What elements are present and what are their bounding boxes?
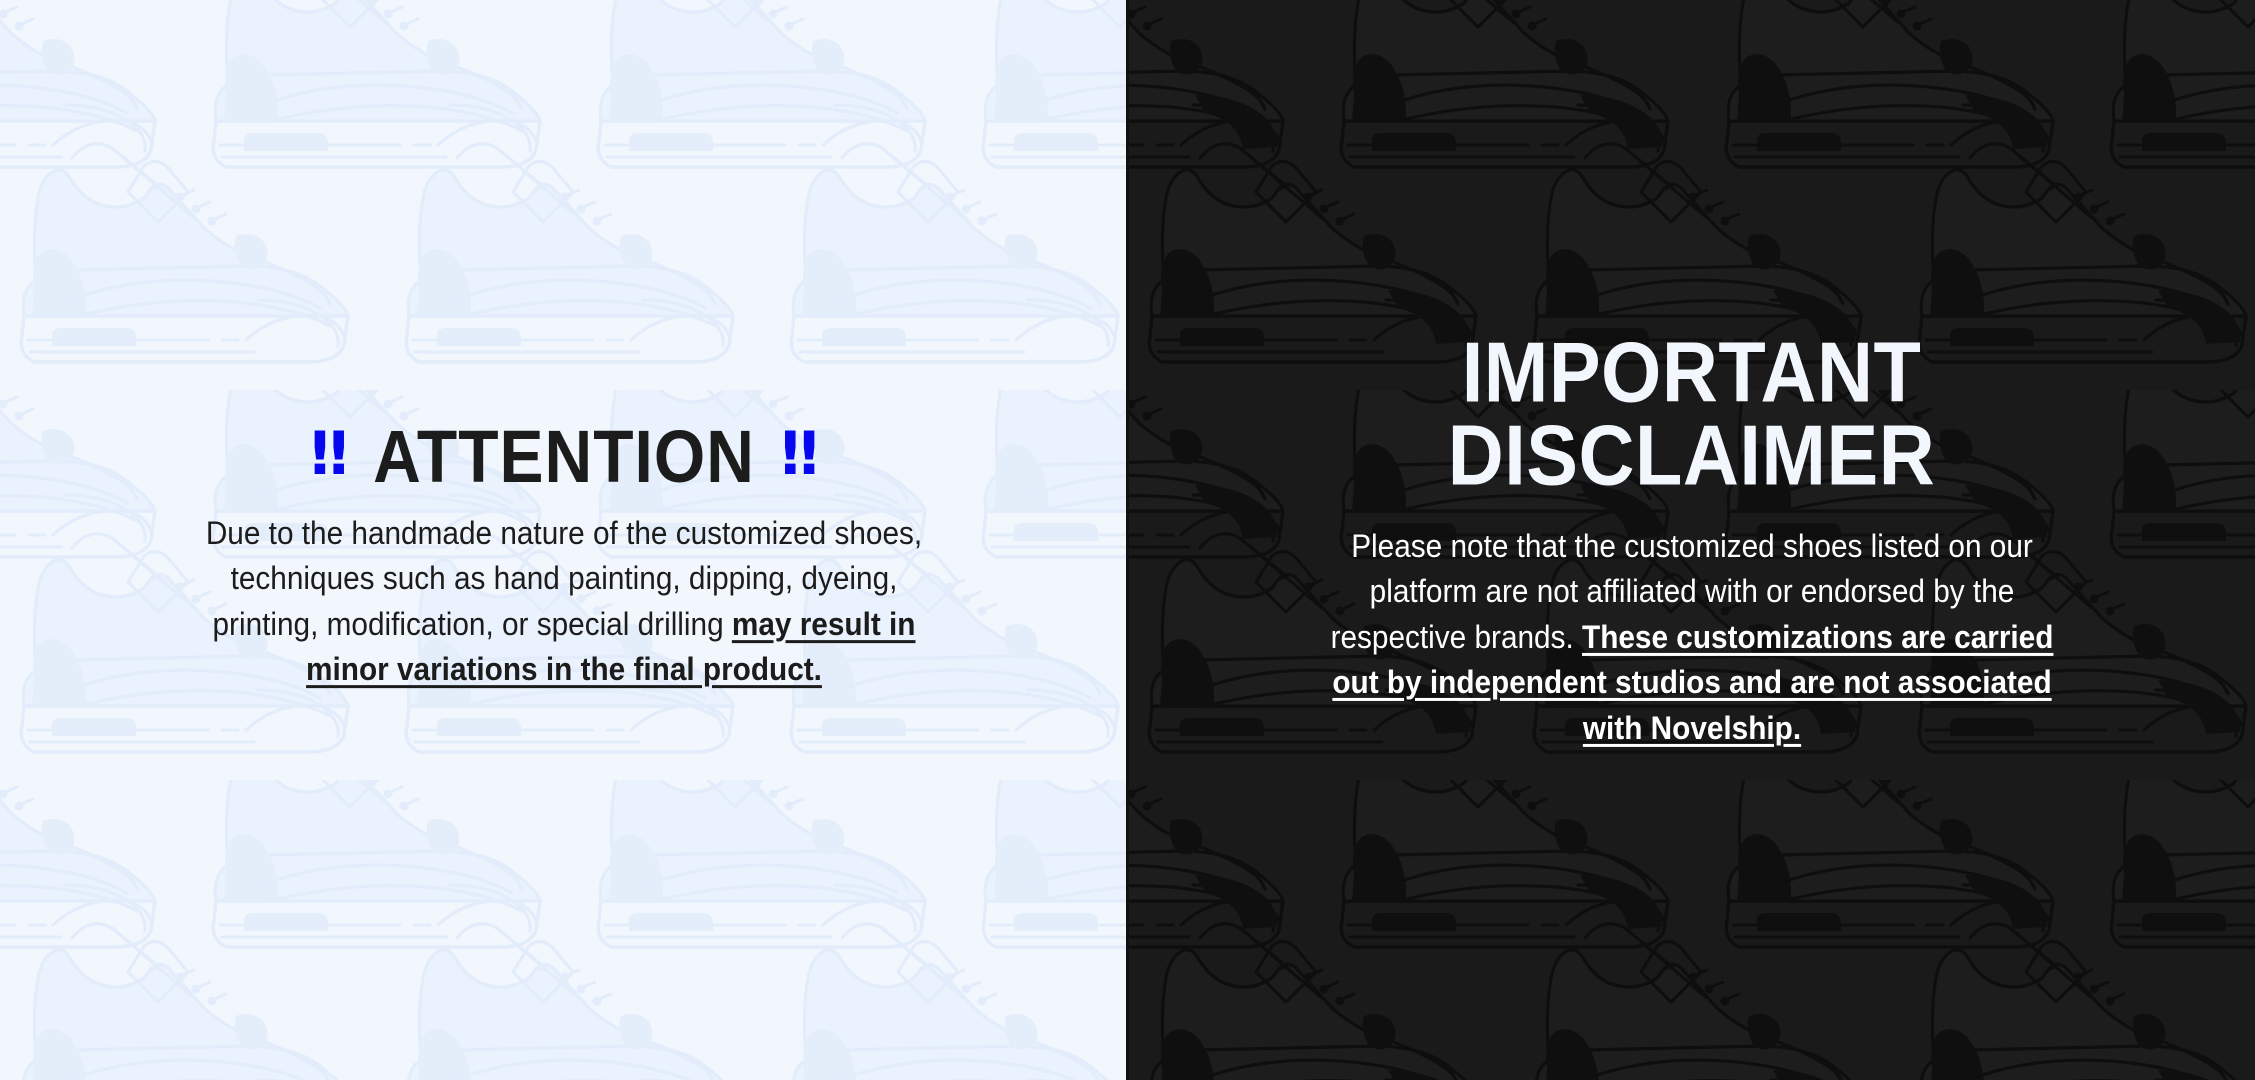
attention-panel: ‼ ATTENTION ‼ Due to the handmade nature… [0, 0, 1128, 1080]
disclaimer-heading-line2: DISCLAIMER [1158, 415, 2226, 498]
attention-heading: ‼ ATTENTION ‼ [40, 423, 1088, 489]
double-exclamation-mark-icon-right: ‼ [781, 424, 818, 484]
double-exclamation-mark-icon-left: ‼ [311, 424, 348, 484]
attention-title: ATTENTION [373, 419, 755, 493]
disclaimer-banner: ‼ ATTENTION ‼ Due to the handmade nature… [0, 0, 2255, 1080]
disclaimer-content: IMPORTANT DISCLAIMER Please note that th… [1128, 341, 2255, 751]
attention-body: Due to the handmade nature of the custom… [183, 511, 946, 693]
disclaimer-heading: IMPORTANT DISCLAIMER [1158, 332, 2226, 499]
panel-divider [1126, 0, 1129, 1080]
disclaimer-panel: IMPORTANT DISCLAIMER Please note that th… [1128, 0, 2255, 1080]
disclaimer-heading-line1: IMPORTANT [1158, 332, 2226, 415]
disclaimer-body: Please note that the customized shoes li… [1320, 524, 2064, 751]
attention-content: ‼ ATTENTION ‼ Due to the handmade nature… [0, 423, 1128, 693]
